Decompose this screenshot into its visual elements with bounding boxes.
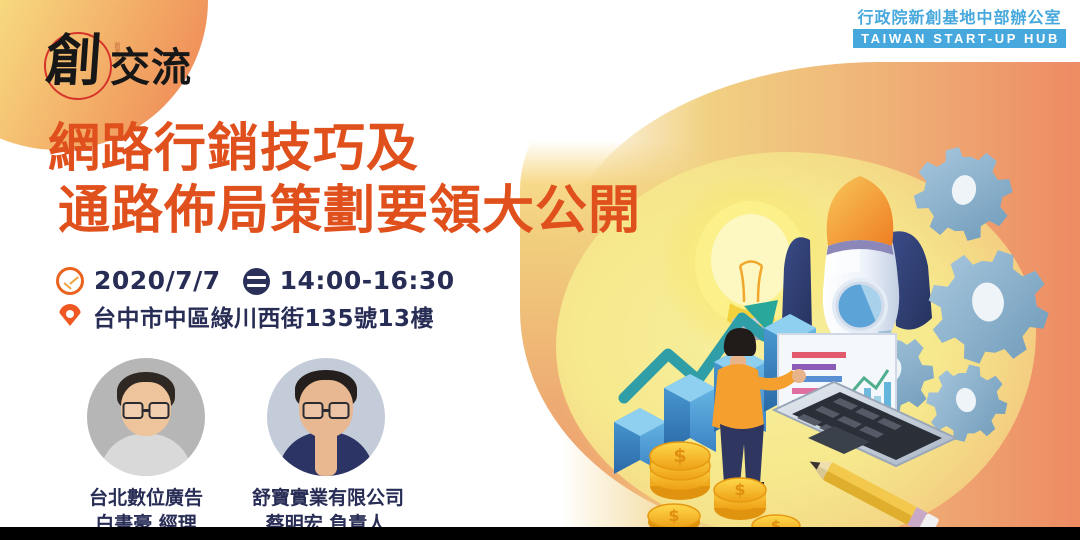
page-title: 網路行銷技巧及 通路佈局策劃要領大公開: [48, 118, 688, 242]
speaker-photo-2: [267, 358, 385, 476]
datetime-row: 2020/7/7 14:00-16:30: [56, 262, 616, 300]
clock-icon: [243, 268, 270, 295]
speaker-body: [100, 434, 192, 476]
event-date: 2020/7/7: [94, 266, 221, 296]
hub-name-chinese: 行政院新創基地中部辦公室: [853, 8, 1066, 27]
svg-text:$: $: [734, 480, 745, 499]
map-pin-icon: [59, 304, 81, 334]
speaker-photo-1: [87, 358, 205, 476]
logo-secondary-characters: 交流: [110, 44, 192, 92]
logo-main-character: 創: [44, 28, 105, 94]
event-banner: 創 創業交流 交流 行政院新創基地中部辦公室 TAIWAN START-UP H…: [0, 0, 1080, 540]
title-line-2: 通路佈局策劃要領大公開: [58, 180, 688, 242]
pencil-icon: [805, 453, 940, 537]
title-line-1: 網路行銷技巧及: [48, 118, 688, 180]
speaker-body: [278, 432, 374, 476]
speaker-org: 舒寶實業有限公司: [252, 485, 400, 511]
event-time: 14:00-16:30: [280, 266, 455, 296]
event-details: 2020/7/7 14:00-16:30 台中市中區綠川西街135號13樓: [56, 262, 616, 338]
glasses-icon: [303, 402, 350, 419]
speaker-org: 台北數位廣告: [72, 485, 220, 511]
speaker-card: 台北數位廣告 白書豪 經理: [72, 358, 220, 537]
speaker-list: 台北數位廣告 白書豪 經理 舒寶實業有限公司 蔡明宏 負責人: [72, 358, 400, 537]
svg-text:$: $: [668, 506, 679, 525]
event-location: 台中市中區綠川西街135號13樓: [93, 304, 434, 334]
location-row: 台中市中區綠川西街135號13樓: [56, 300, 616, 338]
bottom-black-bar: [0, 527, 1080, 540]
hub-name-english: TAIWAN START-UP HUB: [853, 29, 1066, 48]
glasses-icon: [123, 402, 170, 419]
svg-text:$: $: [673, 445, 686, 467]
calendar-check-icon: [56, 267, 84, 295]
speaker-card: 舒寶實業有限公司 蔡明宏 負責人: [252, 358, 400, 537]
brand-logo: 創 創業交流 交流: [38, 30, 228, 100]
business-growth-illustration: $ $ $ $: [596, 70, 1080, 540]
taiwan-startup-hub-logo: 行政院新創基地中部辦公室 TAIWAN START-UP HUB: [853, 8, 1066, 48]
